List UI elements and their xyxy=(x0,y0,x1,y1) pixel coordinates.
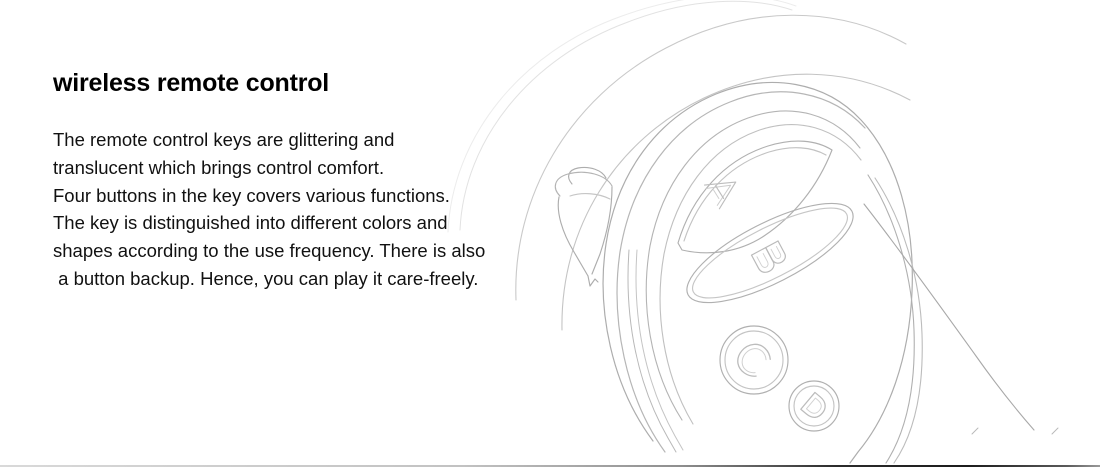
description-line: shapes according to the use frequency. T… xyxy=(53,237,573,265)
signal-arcs-outer xyxy=(516,15,910,330)
button-b xyxy=(674,185,865,322)
button-a xyxy=(678,141,832,253)
remote-outer-shell xyxy=(603,82,912,463)
surface-specks xyxy=(972,428,1058,434)
description-line: translucent which brings control comfort… xyxy=(53,154,573,182)
page-title: wireless remote control xyxy=(53,68,573,98)
inner-shadow-lines xyxy=(628,250,683,452)
right-flank-sweeps xyxy=(864,175,1034,463)
button-d xyxy=(789,381,839,431)
description-line: a button backup. Hence, you can play it … xyxy=(53,265,573,293)
description-paragraph: The remote control keys are glittering a… xyxy=(53,98,573,293)
text-block: wireless remote control The remote contr… xyxy=(53,68,573,293)
description-line: The remote control keys are glittering a… xyxy=(53,126,573,154)
remote-inner-bezel xyxy=(646,111,861,424)
product-feature-banner: wireless remote control The remote contr… xyxy=(0,0,1100,467)
description-line: The key is distinguished into different … xyxy=(53,209,573,237)
description-line: Four buttons in the key covers various f… xyxy=(53,182,573,210)
button-c xyxy=(720,326,788,394)
